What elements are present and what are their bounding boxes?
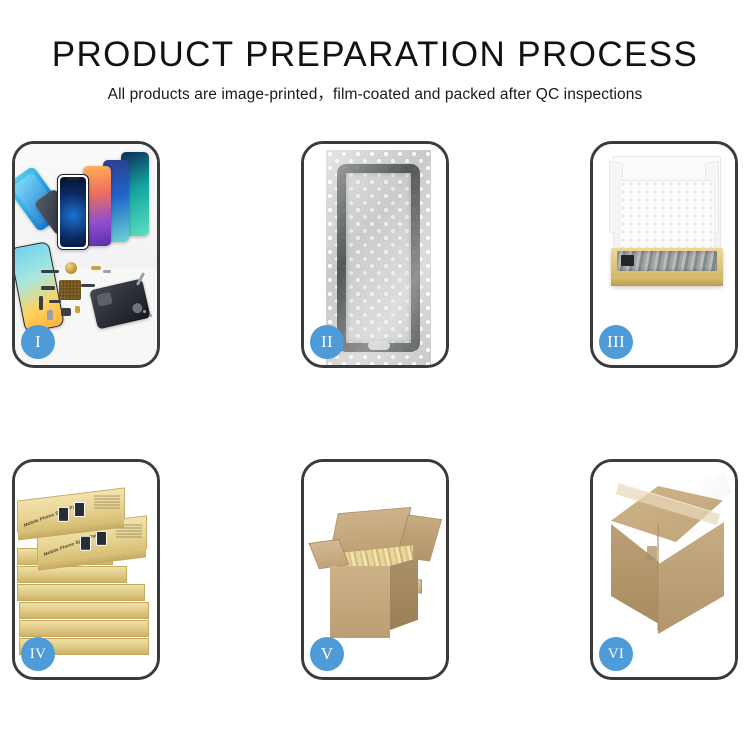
stacked-box-layer [17,566,127,583]
carton-corner-seam [657,524,659,630]
carton-flap-notch [647,546,657,560]
step-badge-ii: II [310,325,344,359]
box-screen-artwork [96,531,107,546]
screw-part [143,310,146,313]
vibrator-part [75,306,80,313]
stacked-box-layer [19,620,149,637]
side-button-part [39,296,43,310]
stacked-box-layer [19,602,149,619]
carton-flap-notch [647,602,657,616]
box-tray-lip [611,277,723,286]
steps-grid: I II III [12,141,738,681]
camera-module-part [61,308,71,316]
step-badge-i: I [21,325,55,359]
logic-board-part [59,280,81,300]
phone-notch [67,177,80,180]
box-screen-artwork [80,536,91,551]
printed-box-top: Mobile Phone Spare Parts [17,487,125,532]
step-badge-v: V [310,637,344,671]
box-spec-lines [94,496,120,511]
step-panel-iii: III [590,141,738,368]
phone-back-housing-image [89,278,151,329]
foam-sheet [619,180,715,252]
step-badge-vi: VI [599,637,633,671]
box-tray [611,248,723,286]
page-title: PRODUCT PREPARATION PROCESS [0,34,750,76]
step-panel-v: V [301,459,449,680]
phone-wallpaper [60,177,86,247]
step-badge-iv: IV [21,637,55,671]
button-flex-part [41,286,55,290]
carton-side-face [390,558,418,630]
step-panel-i: I [12,141,160,368]
screw-part [149,314,152,317]
sim-tray-part [47,310,53,320]
page-subtitle: All products are image-printed，film-coat… [0,85,750,105]
box-screen-artwork [74,502,85,517]
flex-cable-part [41,270,59,273]
gold-connector-part [91,266,101,270]
step-panel-vi: VI [590,459,738,680]
header: PRODUCT PREPARATION PROCESS All products… [0,34,750,105]
antenna-flex-part [49,300,61,303]
charging-flex-part [81,284,95,287]
step-badge-iii: III [599,325,633,359]
box-screen-artwork [58,507,69,522]
speaker-part [65,262,77,274]
wrapped-screen-in-box [617,251,717,271]
front-screen-phone-image [57,174,89,250]
step-panel-ii: II [301,141,449,368]
step-panel-iv: Mobile Phone Spare Parts Mobile Phone Sp… [12,459,160,680]
screen-assembly [337,164,420,352]
product-preparation-infographic: PRODUCT PREPARATION PROCESS All products… [0,0,750,750]
metal-bracket-part [103,270,111,273]
carton-front-face [330,566,390,638]
stacked-box-layer [17,584,145,601]
